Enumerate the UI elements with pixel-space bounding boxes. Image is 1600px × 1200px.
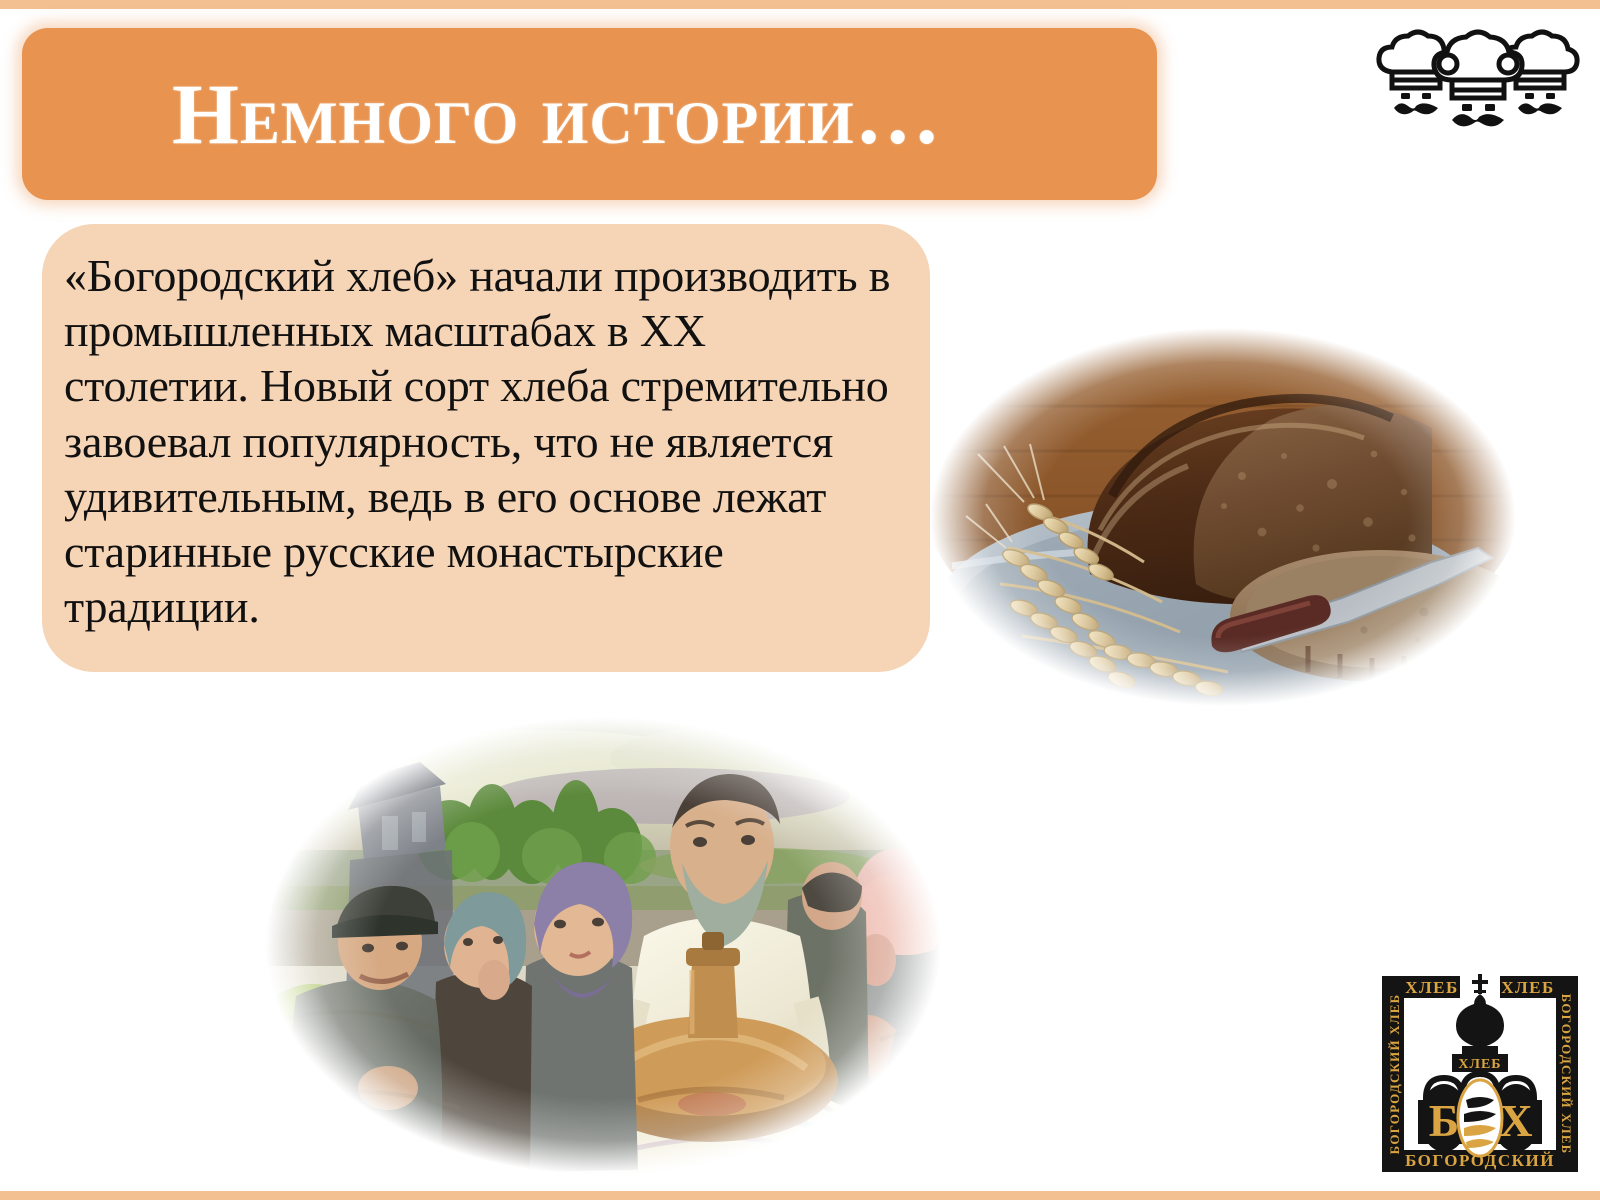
- logo-dome-text: ХЛЕБ: [1458, 1057, 1501, 1072]
- top-accent-band: [0, 0, 1600, 9]
- logo-monogram-right: Х: [1499, 1095, 1532, 1146]
- chef-hats-icon: [1370, 22, 1586, 132]
- bogorodsky-hleb-logo: ХЛЕБ ХЛЕБ БОГОРОДСКИЙ БОГОРОДСКИЙ ХЛЕБ Б…: [1374, 968, 1586, 1180]
- logo-right-side-text: БОГОРОДСКИЙ ХЛЕБ: [1559, 994, 1574, 1155]
- logo-monogram-left: Б: [1429, 1095, 1459, 1146]
- title-bar: Немного истории…: [22, 28, 1157, 200]
- slide: Немного истории…: [0, 0, 1600, 1200]
- logo-top-left-text: ХЛЕБ: [1405, 978, 1459, 997]
- page-title: Немного истории…: [22, 71, 942, 157]
- bottom-accent-band: [0, 1191, 1600, 1200]
- peasants-painting: [240, 700, 966, 1192]
- logo-top-right-text: ХЛЕБ: [1501, 978, 1555, 997]
- logo-left-side-text: БОГОРОДСКИЙ ХЛЕБ: [1387, 994, 1402, 1155]
- body-paragraph: «Богородский хлеб» начали производить в …: [64, 248, 896, 634]
- bread-photo: [912, 316, 1534, 718]
- body-text-card: «Богородский хлеб» начали производить в …: [42, 224, 930, 672]
